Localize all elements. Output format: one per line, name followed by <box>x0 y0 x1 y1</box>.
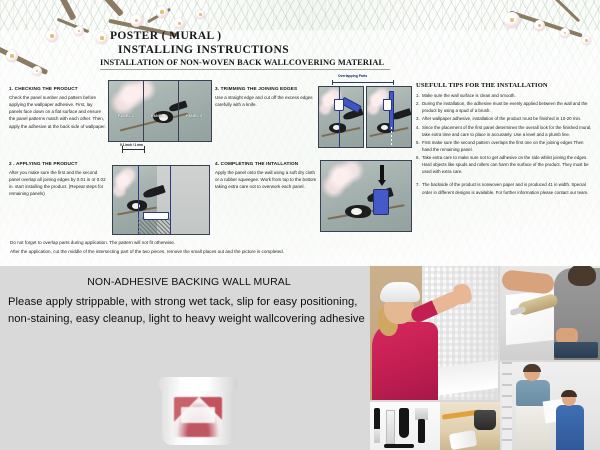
promo-text-block: NON-ADHESIVE BACKING WALL MURAL Please a… <box>8 266 370 328</box>
man-hair <box>523 364 541 372</box>
worker-arm <box>501 269 555 294</box>
blossom-branch-top-right <box>498 0 598 68</box>
step-2-heading: 2 . APPLYING THE PRODUCT <box>9 161 109 166</box>
step-2-body: After you make sure the first and the se… <box>9 169 109 198</box>
step-4-body: Apply the panel onto the wall using a so… <box>215 169 320 191</box>
tool-smoother-brush <box>386 410 395 444</box>
overlap-line <box>332 82 394 83</box>
tips-list: 1.Make sure the wall surface is clean an… <box>416 92 592 196</box>
photo-roller-applying-paste <box>500 266 600 360</box>
tip-number-2: 2. <box>416 100 420 107</box>
useful-tips-block: USEFULL TIPS FOR THE INSTALLATION 1.Make… <box>416 82 592 197</box>
tips-heading: USEFULL TIPS FOR THE INSTALLATION <box>416 82 592 89</box>
step-4-block: 4. COMPLETING THE INTALLATION Apply the … <box>215 161 320 190</box>
overlapping-parts-label: Overlapping Parts <box>338 74 367 78</box>
diagram-step-2-applying <box>112 165 210 235</box>
diagram-step-1-three-panels: PANEL 1 PANEL 2 PANEL 3 <box>108 80 212 142</box>
tool-knife-handle-2 <box>418 419 425 443</box>
tip-text-3: After wallpaper adhesive, installation o… <box>422 116 581 121</box>
overlap-dimension-indicator: 0.1 inch / 1 mm <box>118 145 158 155</box>
poster-subtitle: INSTALLATION OF NON-WOVEN BACK WALLCOVER… <box>100 58 390 70</box>
poster-title-block: POSTER ( MURAL ) INSTALLING INSTRUCTIONS <box>110 30 289 56</box>
diagram-step-3a-overlap <box>318 86 364 148</box>
step-1-heading: 1. CHECKING THE PRODUCT <box>9 86 106 91</box>
cut-line-dashed <box>391 127 392 148</box>
tip-text-4: Since the placement of the first panel d… <box>422 125 591 137</box>
woman-cap <box>380 282 420 302</box>
child-body <box>556 405 584 450</box>
step-3-body: Use a straight edge and cut off the exce… <box>215 94 317 109</box>
tool-blade-1 <box>374 429 380 443</box>
dimension-label: 0.1 inch / 1 mm <box>120 143 143 147</box>
straight-edge-icon <box>389 91 394 131</box>
tip-number-3: 3. <box>416 115 420 122</box>
paste-bucket-small <box>474 410 496 430</box>
overlap-tab-3a <box>334 99 344 111</box>
promo-title: NON-ADHESIVE BACKING WALL MURAL <box>8 276 370 288</box>
tip-number-4: 4. <box>416 124 420 131</box>
tip-number-6: 6. <box>416 154 420 161</box>
tip-number-1: 1. <box>416 92 420 99</box>
instruction-poster-area: POSTER ( MURAL ) INSTALLING INSTRUCTIONS… <box>0 0 600 266</box>
diagram-step-4-completing <box>320 160 412 232</box>
panel-divider-1 <box>143 81 144 141</box>
poster-title-line-2: INSTALLING INSTRUCTIONS <box>118 44 289 56</box>
tool-bottom-bar <box>384 444 414 448</box>
ladder <box>502 362 512 450</box>
overlap-tab-3b <box>383 99 392 111</box>
trim-guide-line-3a <box>339 87 340 148</box>
photo-wallpaper-tools <box>370 402 440 450</box>
adhesive-hatch-area <box>138 218 170 235</box>
panel-divider-2 <box>178 81 179 141</box>
step-1-body: Check the panel number and pattern befor… <box>9 94 106 130</box>
squeegee-icon <box>373 189 389 215</box>
overlap-tab <box>143 212 169 220</box>
photo-collage <box>370 266 600 450</box>
wallpaper-instruction-poster: POSTER ( MURAL ) INSTALLING INSTRUCTIONS… <box>0 0 600 450</box>
joining-edge-line-right <box>170 166 171 235</box>
footer-note-1: Do not forget to overlap parts during ap… <box>10 239 460 248</box>
panel-2-label: PANEL 2 <box>151 114 167 118</box>
tips-spacer <box>416 176 592 180</box>
adhesive-bucket-image <box>158 375 238 447</box>
tip-item-3: 3.After wallpaper adhesive, installation… <box>416 115 592 122</box>
footer-note-2: After the application, cut the middle of… <box>10 248 460 257</box>
bucket-lid <box>158 377 238 391</box>
photo-woman-hanging-wallpaper <box>370 266 498 400</box>
step-3-heading: 3. TRIMMING THE JOINING EDGES <box>215 86 317 91</box>
downward-arrow-icon <box>377 165 387 187</box>
diagram-step-3b-cut <box>366 86 412 148</box>
tip-text-6: Take extra care to make sure not to get … <box>422 155 589 174</box>
tip-number-7: 7. <box>416 181 420 188</box>
step-1-block: 1. CHECKING THE PRODUCT Check the panel … <box>9 86 106 130</box>
tip-text-5: First make sure the second pattern overl… <box>422 140 584 152</box>
tip-item-4: 4.Since the placement of the first panel… <box>416 124 592 138</box>
blossom-branch-top-far-left <box>30 0 120 50</box>
poster-title-line-1: POSTER ( MURAL ) <box>110 30 289 42</box>
tool-scraper-black <box>399 408 409 438</box>
tip-number-5: 5. <box>416 139 420 146</box>
tip-item-6: 6.Take extra care to make sure not to ge… <box>416 154 592 175</box>
panel-3-label: PANEL 3 <box>186 114 202 118</box>
panel-1-label: PANEL 1 <box>118 114 134 118</box>
photo-paste-tray-and-roll <box>440 402 500 450</box>
step-2-block: 2 . APPLYING THE PRODUCT After you make … <box>9 161 109 198</box>
tip-text-1: Make sure the wall surface is clean and … <box>422 93 516 98</box>
poster-footer-notes: Do not forget to overlap parts during ap… <box>10 239 460 257</box>
tip-item-1: 1.Make sure the wall surface is clean an… <box>416 92 592 99</box>
bucket-label-graphic <box>174 397 222 437</box>
wallpaper-roll <box>449 430 477 450</box>
step-3-block: 3. TRIMMING THE JOINING EDGES Use a stra… <box>215 86 317 108</box>
paste-tray <box>554 342 598 358</box>
tip-text-2: During the installation, the adhesive mu… <box>422 101 588 113</box>
tip-item-2: 2.During the installation, the adhesive … <box>416 100 592 114</box>
tip-item-7: 7.The backside of the product is nonwove… <box>416 181 592 195</box>
worker-head <box>568 266 596 286</box>
tip-item-5: 5.First make sure the second pattern ove… <box>416 139 592 153</box>
promo-body: Please apply strippable, with strong wet… <box>8 294 370 328</box>
step-4-heading: 4. COMPLETING THE INTALLATION <box>215 161 320 166</box>
overlap-cap-right <box>393 80 394 85</box>
child-hair <box>561 390 577 397</box>
bucket-label-text-patch <box>181 407 215 423</box>
tool-knife-handle-1 <box>374 408 380 430</box>
photo-man-and-child-hanging <box>500 362 600 450</box>
tip-text-7: The backside of the product is nonwoven … <box>422 182 588 194</box>
